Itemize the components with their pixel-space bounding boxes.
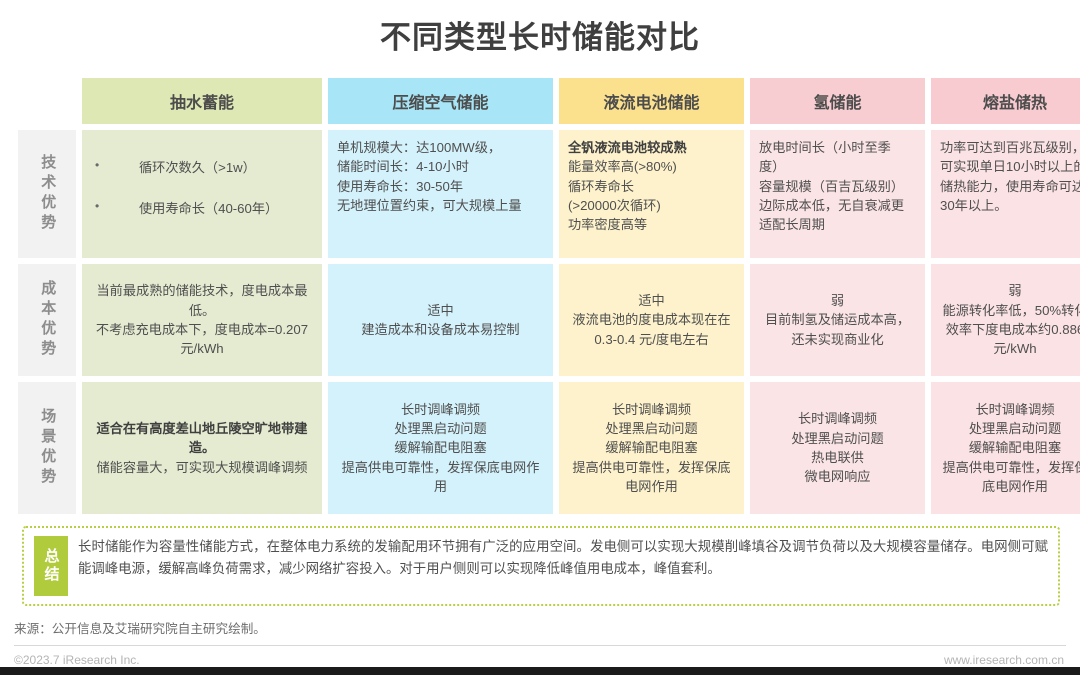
cell-tech-hydrogen: 放电时间长（小时至季度） 容量规模（百吉瓦级别） 边际成本低，无自衰减更适配长周… [750, 130, 925, 258]
cell-scene-pumped-body: 储能容量大，可实现大规模调峰调频 [97, 458, 308, 477]
cell-cost-flow: 适中 液流电池的度电成本现在在 0.3-0.4 元/度电左右 [559, 264, 744, 376]
cell-tech-molten: 功率可达到百兆瓦级别，可实现单日10小时以上的储热能力，使用寿命可达30年以上。 [931, 130, 1080, 258]
list-item: 使用寿命长（40-60年） [91, 198, 313, 219]
cell-cost-molten: 弱 能源转化率低，50%转化效率下度电成本约0.886元/kWh [931, 264, 1080, 376]
cell-cost-caes: 适中 建造成本和设备成本易控制 [328, 264, 553, 376]
row-label-cost: 成本优势 [18, 264, 76, 376]
page-title: 不同类型长时储能对比 [0, 16, 1080, 60]
slide: 不同类型长时储能对比 抽水蓄能 压缩空气储能 液流电池储能 氢储能 熔盐储热 技… [0, 0, 1080, 675]
column-header-molten: 熔盐储热 [931, 78, 1080, 124]
cell-scene-flow: 长时调峰调频 处理黑启动问题 缓解输配电阻塞 提高供电可靠性，发挥保底电网作用 [559, 382, 744, 514]
cell-scene-pumped-heading: 适合在有高度差山地丘陵空旷地带建造。 [91, 419, 313, 458]
column-header-flow: 液流电池储能 [559, 78, 744, 124]
cell-scene-hydrogen: 长时调峰调频 处理黑启动问题 热电联供 微电网响应 [750, 382, 925, 514]
column-header-caes: 压缩空气储能 [328, 78, 553, 124]
grid-corner [18, 78, 76, 124]
summary-badge: 总结 [34, 536, 68, 596]
tech-pumped-bullet-list: 循环次数久（>1w） 使用寿命长（40-60年） [91, 138, 313, 239]
cell-tech-flow-heading: 全钒液流电池较成熟 [568, 138, 735, 157]
cell-scene-pumped: 适合在有高度差山地丘陵空旷地带建造。 储能容量大，可实现大规模调峰调频 [82, 382, 322, 514]
summary-box: 总结 长时储能作为容量性储能方式，在整体电力系统的发输配用环节拥有广泛的应用空间… [22, 526, 1060, 606]
footer: ©2023.7 iResearch Inc. www.iresearch.com… [14, 653, 1064, 667]
comparison-table: 抽水蓄能 压缩空气储能 液流电池储能 氢储能 熔盐储热 技术优势 循环次数久（>… [18, 78, 1062, 514]
row-label-scene: 场景优势 [18, 382, 76, 514]
cell-scene-molten: 长时调峰调频 处理黑启动问题 缓解输配电阻塞 提高供电可靠性，发挥保底电网作用 [931, 382, 1080, 514]
bottom-bar [0, 667, 1080, 675]
footer-divider [14, 645, 1066, 646]
cell-cost-pumped: 当前最成熟的储能技术，度电成本最低。 不考虑充电成本下，度电成本=0.207 元… [82, 264, 322, 376]
cell-tech-flow: 全钒液流电池较成熟 能量效率高(>80%) 循环寿命长 (>20000次循环) … [559, 130, 744, 258]
cell-scene-caes: 长时调峰调频 处理黑启动问题 缓解输配电阻塞 提高供电可靠性，发挥保底电网作用 [328, 382, 553, 514]
list-item: 循环次数久（>1w） [91, 157, 313, 178]
column-header-pumped: 抽水蓄能 [82, 78, 322, 124]
row-label-tech: 技术优势 [18, 130, 76, 258]
cell-tech-flow-body: 能量效率高(>80%) 循环寿命长 (>20000次循环) 功率密度高等 [568, 157, 735, 234]
comparison-grid: 抽水蓄能 压缩空气储能 液流电池储能 氢储能 熔盐储热 技术优势 循环次数久（>… [18, 78, 1062, 514]
cell-tech-pumped: 循环次数久（>1w） 使用寿命长（40-60年） [82, 130, 322, 258]
cell-cost-hydrogen: 弱 目前制氢及储运成本高，还未实现商业化 [750, 264, 925, 376]
website-link[interactable]: www.iresearch.com.cn [944, 653, 1064, 667]
summary-text: 长时储能作为容量性储能方式，在整体电力系统的发输配用环节拥有广泛的应用空间。发电… [78, 535, 1048, 597]
column-header-hydrogen: 氢储能 [750, 78, 925, 124]
source-note: 来源：公开信息及艾瑞研究院自主研究绘制。 [14, 618, 1080, 637]
copyright-text: ©2023.7 iResearch Inc. [14, 653, 140, 667]
cell-tech-caes: 单机规模大：达100MW级， 储能时间长：4-10小时 使用寿命长：30-50年… [328, 130, 553, 258]
